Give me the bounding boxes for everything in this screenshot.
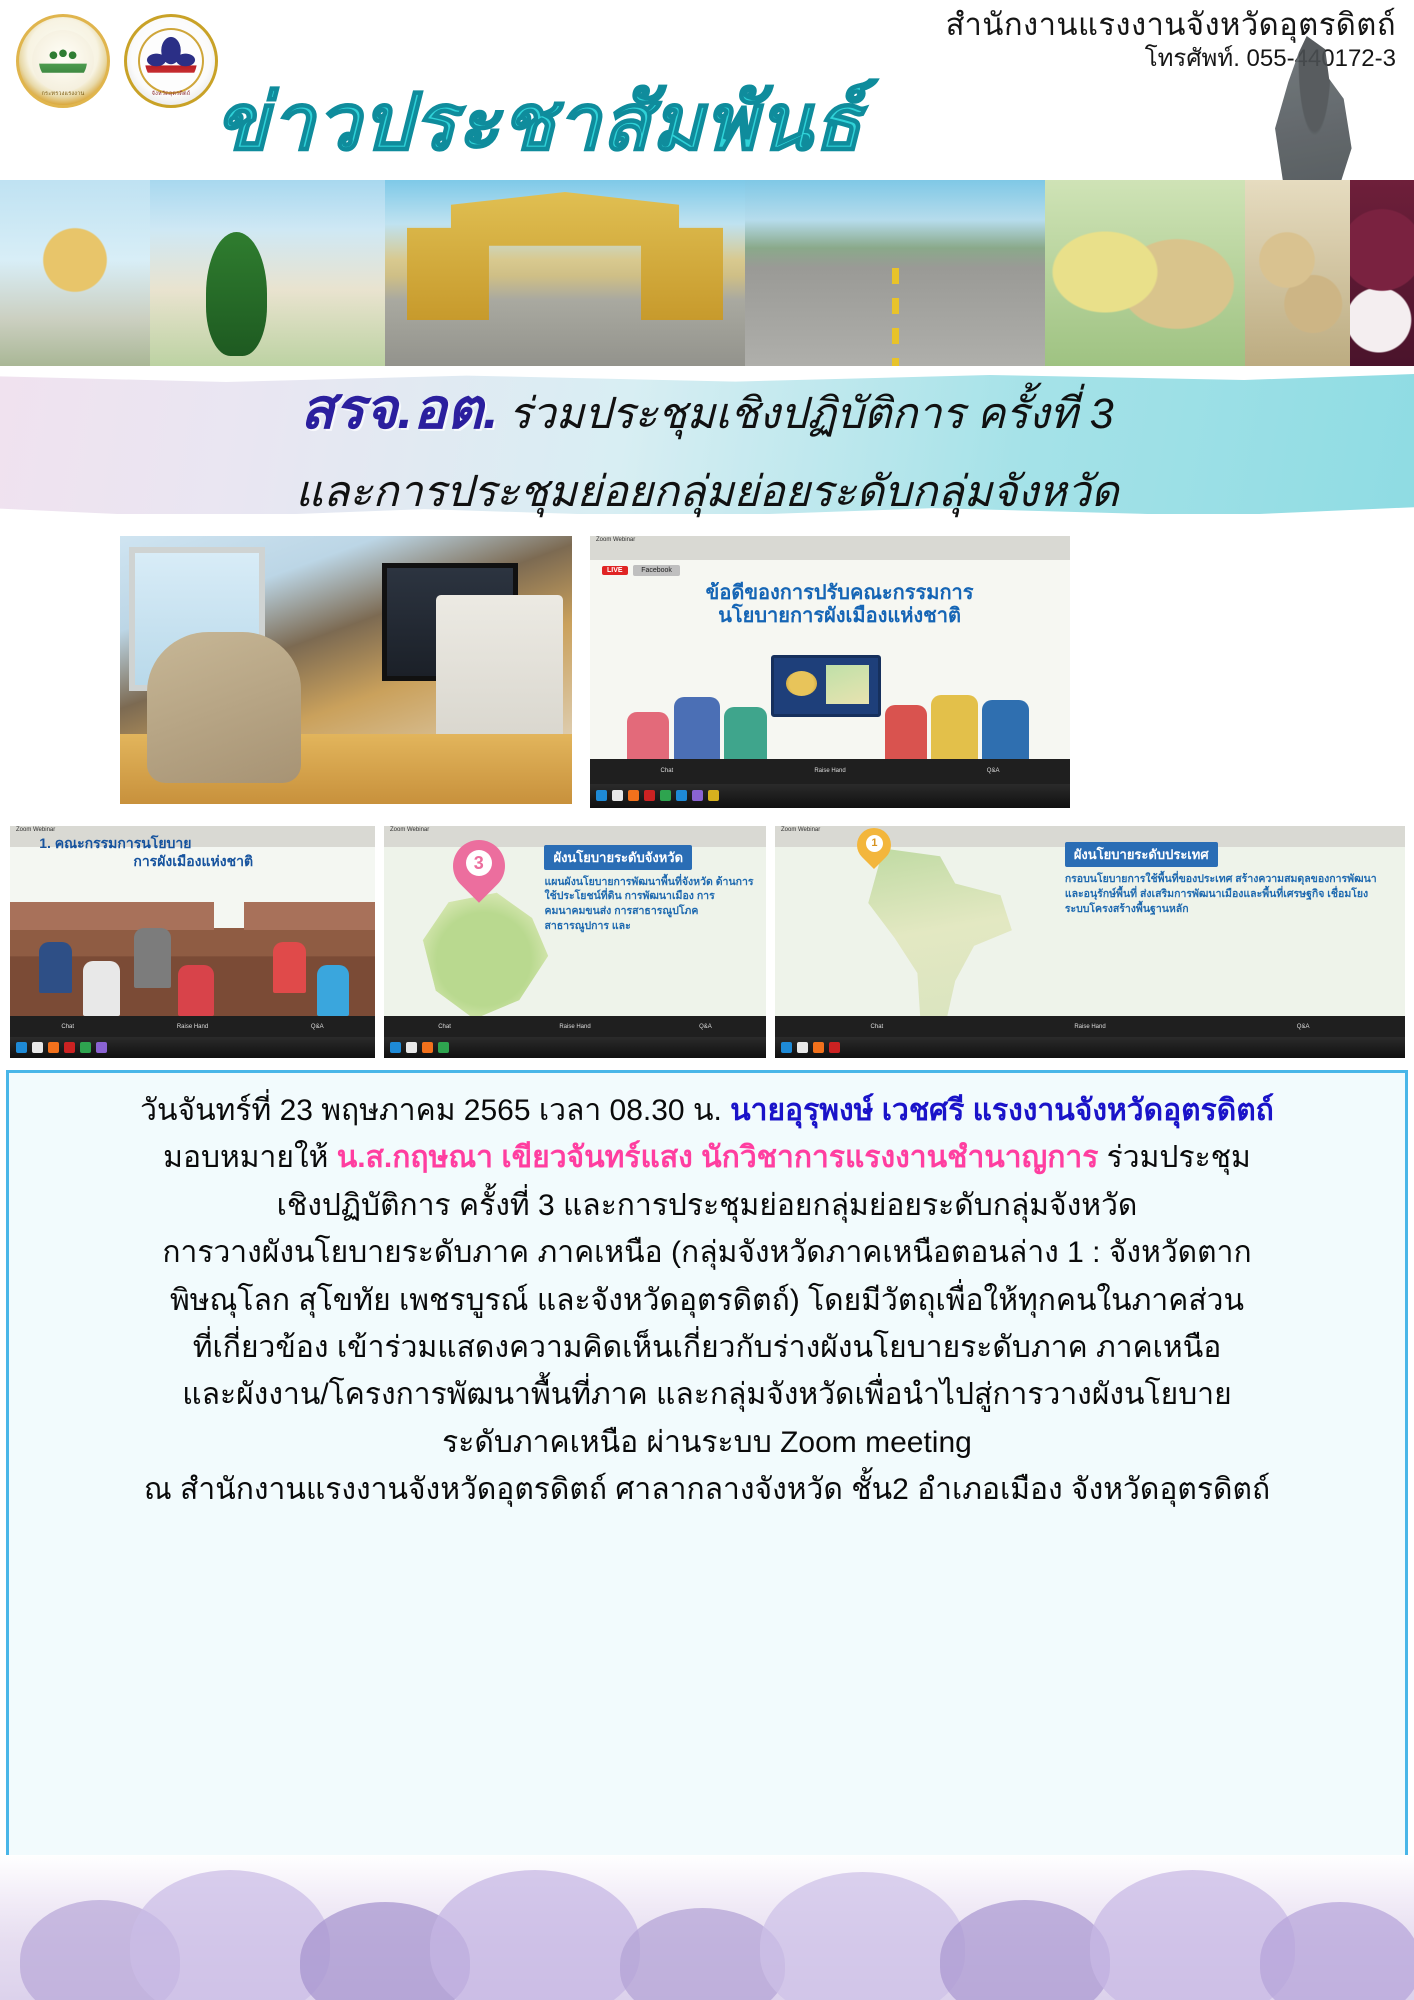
buddha-statue-photo	[0, 180, 150, 380]
zoom-window-title-2: Zoom Webinar	[10, 826, 375, 833]
uttaradit-province-seal-icon: จังหวัดอุตรดิตถ์	[124, 14, 218, 108]
body-date-time: วันจันทร์ที่ 23 พฤษภาคม 2565 เวลา 08.30 …	[140, 1094, 730, 1127]
map-pin-number: 3	[466, 850, 492, 876]
subtitle-banner: สรจ.อต. ร่วมประชุมเชิงปฏิบัติการ ครั้งที…	[0, 374, 1414, 514]
body-assign-suffix: ร่วมประชุม	[1098, 1141, 1250, 1174]
body-paragraph-7: และผังงาน/โครงการพัฒนาพื้นที่ภาค และกลุ่…	[9, 1371, 1405, 1418]
slide-title-committee: 1. คณะกรรมการนโยบาย การผังเมืองแห่งชาติ	[39, 835, 353, 870]
assigned-officer-name: น.ส.กฤษณา เขียวจันทร์แสง นักวิชาการแรงงา…	[337, 1141, 1099, 1174]
body-paragraph-5: พิษณุโลก สุโขทัย เพชรบูรณ์ และจังหวัดอุต…	[9, 1277, 1405, 1324]
banner-office-tag: สรจ.อต.	[300, 364, 498, 453]
national-policy-body: กรอบนโยบายการใช้พื้นที่ของประเทศ สร้างคว…	[1065, 872, 1393, 917]
national-policy-tag: ผังนโยบายระดับประเทศ	[1065, 842, 1218, 867]
office-info: สำนักงานแรงงานจังหวัดอุตรดิตถ์ โทรศัพท์.…	[946, 8, 1396, 73]
landmark-photo-strip	[0, 180, 1414, 380]
longkong-fruit-photo	[1245, 180, 1350, 380]
zoom-control-chat-2[interactable]: Chat	[61, 1024, 74, 1030]
facebook-button: Facebook	[633, 565, 680, 576]
poster-root: กระทรวงแรงงาน จังหวัดอุตรดิตถ์ สำนักงานแ…	[0, 0, 1414, 2000]
slide1-title-line2: การผังเมืองแห่งชาติ	[39, 853, 353, 871]
presentation-board-icon	[771, 655, 881, 718]
office-name: สำนักงานแรงงานจังหวัดอุตรดิตถ์	[946, 8, 1396, 43]
slide-title-zoom1: ข้อดีของการปรับคณะกรรมการ นโยบายการผังเม…	[648, 582, 1032, 627]
slide-illustration-people	[619, 645, 1041, 770]
slide-title-zoom1-line1: ข้อดีของการปรับคณะกรรมการ	[648, 582, 1032, 604]
poster-header: กระทรวงแรงงาน จังหวัดอุตรดิตถ์ สำนักงานแ…	[0, 0, 1414, 180]
body-paragraph-3: เชิงปฏิบัติการ ครั้งที่ 3 และการประชุมย่…	[9, 1182, 1405, 1229]
zoom-window-titlebar: Zoom Webinar	[590, 536, 1070, 560]
temple-photo	[150, 180, 385, 380]
zoom-control-bar-2[interactable]: Chat Raise Hand Q&A	[10, 1016, 375, 1037]
body-paragraph-2: มอบหมายให้ น.ส.กฤษณา เขียวจันทร์แสง นักว…	[9, 1134, 1405, 1181]
map-pin-1-icon: 1	[857, 828, 891, 872]
page-title: ข่าวประชาสัมพันธ์	[215, 60, 863, 184]
zoom-control-raise-hand[interactable]: Raise Hand	[814, 768, 845, 774]
zoom-screenshot-national-policy-slide: Zoom Webinar 1 ผังนโยบายระดับประเทศ กรอบ…	[775, 826, 1405, 1058]
zoom-screenshot-committee-slide: Zoom Webinar 1. คณะกรรมการนโยบาย การผังเ…	[10, 826, 375, 1058]
body-paragraph-1: วันจันทร์ที่ 23 พฤษภาคม 2565 เวลา 08.30 …	[9, 1073, 1405, 1134]
live-badge: LIVE	[602, 566, 628, 575]
photo-grid-top: Zoom Webinar LIVE Facebook ข้อดีของการปร…	[0, 528, 1414, 818]
map-pin-3-icon: 3	[453, 840, 505, 906]
zoom-control-chat[interactable]: Chat	[661, 768, 674, 774]
thailand-map-image	[838, 845, 1027, 1040]
zoom-window-title: Zoom Webinar	[590, 536, 1070, 543]
office-phone: โทรศัพท์. 055-440172-3	[946, 46, 1396, 73]
windows-taskbar-4[interactable]	[775, 1037, 1405, 1058]
mangosteen-fruit-photo	[1350, 180, 1414, 380]
zoom-control-qa[interactable]: Q&A	[987, 768, 1000, 774]
body-paragraph-6: ที่เกี่ยวข้อง เข้าร่วมแสดงความคิดเห็นเกี…	[9, 1324, 1405, 1371]
provincial-policy-body: แผนผังนโยบายการพัฒนาพื้นที่จังหวัด ด้านก…	[544, 875, 754, 935]
zoom-control-qa-2[interactable]: Q&A	[311, 1024, 324, 1030]
national-policy-panel: ผังนโยบายระดับประเทศ กรอบนโยบายการใช้พื้…	[1065, 842, 1393, 917]
slide1-title-line1: 1. คณะกรรมการนโยบาย	[39, 835, 191, 851]
zoom-control-chat-4[interactable]: Chat	[871, 1024, 884, 1030]
city-gate-photo	[385, 180, 745, 380]
body-paragraph-9: ณ สำนักงานแรงงานจังหวัดอุตรดิตถ์ ศาลากลา…	[9, 1466, 1405, 1513]
zoom-control-raise-hand-4[interactable]: Raise Hand	[1074, 1024, 1105, 1030]
town-road-photo	[745, 180, 1045, 380]
slide-title-zoom1-line2: นโยบายการผังเมืองแห่งชาติ	[648, 605, 1032, 627]
provincial-policy-panel: ผังนโยบายระดับจังหวัด แผนผังนโยบายการพัฒ…	[544, 845, 754, 935]
zoom-control-chat-3[interactable]: Chat	[438, 1024, 451, 1030]
windows-taskbar-2[interactable]	[10, 1037, 375, 1058]
zoom-control-bar-3[interactable]: Chat Raise Hand Q&A	[384, 1016, 766, 1037]
zoom-window-title-3: Zoom Webinar	[384, 826, 766, 833]
banner-line-2: และการประชุมย่อยกลุ่มย่อยระดับกลุ่มจังหว…	[295, 457, 1118, 525]
office-meeting-photo	[120, 536, 572, 804]
zoom-control-raise-hand-3[interactable]: Raise Hand	[559, 1024, 590, 1030]
provincial-policy-tag: ผังนโยบายระดับจังหวัด	[544, 845, 692, 870]
zoom-control-raise-hand-2[interactable]: Raise Hand	[177, 1024, 208, 1030]
photo-grid-bottom: Zoom Webinar 1. คณะกรรมการนโยบาย การผังเ…	[0, 826, 1414, 1066]
province-seal-caption: จังหวัดอุตรดิตถ์	[127, 90, 215, 98]
zoom-control-qa-3[interactable]: Q&A	[699, 1024, 712, 1030]
zoom-control-bar[interactable]: Chat Raise Hand Q&A	[590, 759, 1070, 783]
durian-fruit-photo	[1045, 180, 1245, 380]
windows-taskbar-3[interactable]	[384, 1037, 766, 1058]
windows-taskbar[interactable]	[590, 784, 1070, 808]
zoom-screenshot-provincial-policy-slide: Zoom Webinar 3 ผังนโยบายระดับจังหวัด แผน…	[384, 826, 766, 1058]
zoom-control-qa-4[interactable]: Q&A	[1297, 1024, 1310, 1030]
labour-officer-name: นายอุรุพงษ์ เวชศรี แรงงานจังหวัดอุตรดิตถ…	[730, 1094, 1274, 1127]
zoom-control-bar-4[interactable]: Chat Raise Hand Q&A	[775, 1016, 1405, 1037]
footer-floral-decoration	[0, 1855, 1414, 2000]
ministry-seal-caption: กระทรวงแรงงาน	[19, 90, 107, 98]
logo-group: กระทรวงแรงงาน จังหวัดอุตรดิตถ์	[16, 14, 218, 108]
zoom-webinar-screenshot-1: Zoom Webinar LIVE Facebook ข้อดีของการปร…	[590, 536, 1070, 808]
banner-line-1: ร่วมประชุมเชิงปฏิบัติการ ครั้งที่ 3	[509, 379, 1114, 447]
news-body-textbox: วันจันทร์ที่ 23 พฤษภาคม 2565 เวลา 08.30 …	[6, 1070, 1408, 1860]
body-assign-prefix: มอบหมายให้	[163, 1141, 337, 1174]
body-paragraph-8: ระดับภาคเหนือ ผ่านระบบ Zoom meeting	[9, 1419, 1405, 1466]
ministry-of-labour-seal-icon: กระทรวงแรงงาน	[16, 14, 110, 108]
body-paragraph-4: การวางผังนโยบายระดับภาค ภาคเหนือ (กลุ่มจ…	[9, 1229, 1405, 1276]
